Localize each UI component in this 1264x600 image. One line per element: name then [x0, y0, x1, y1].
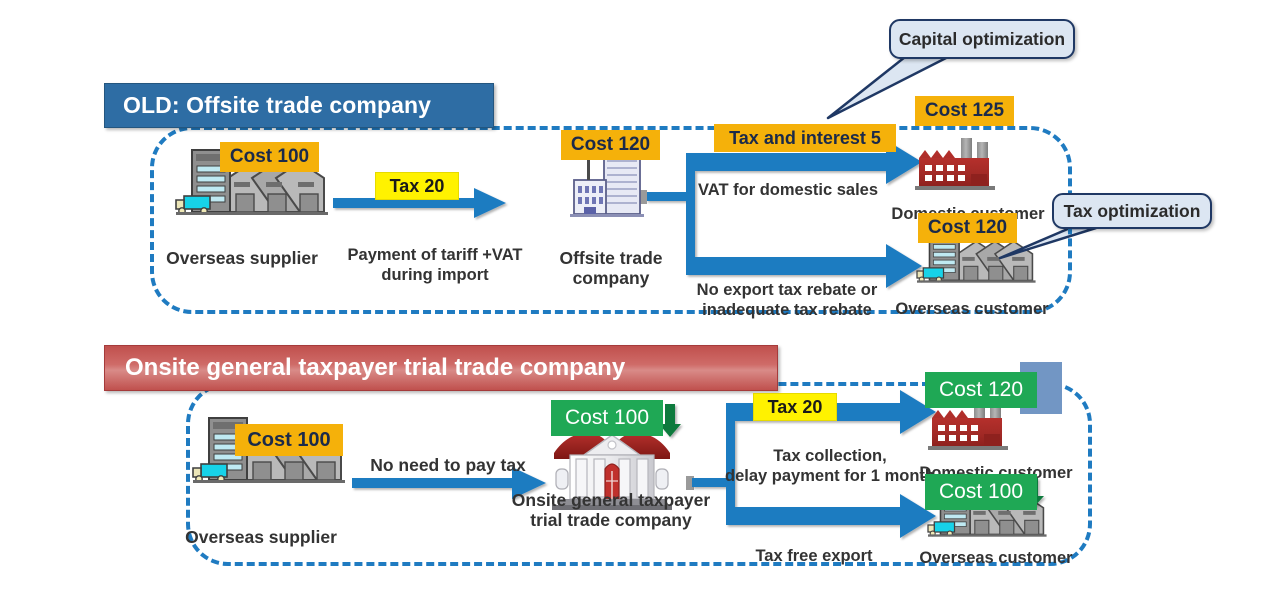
old-overseas-customer-label: Overseas customer	[890, 281, 1054, 320]
old-trade-company-cost-badge: Cost 120	[561, 130, 660, 160]
old-domestic-tax-badge: Tax and interest 5	[714, 124, 896, 152]
new-trade-company-label: Onsite general taxpayer trial trade comp…	[480, 469, 742, 531]
old-export-branch-caption: No export tax rebate or inadequate tax r…	[684, 262, 890, 320]
old-domestic-customer-cost-badge: Cost 125	[915, 96, 1014, 126]
old-supplier-cost-badge: Cost 100	[220, 142, 319, 172]
old-domestic-branch-caption: VAT for domestic sales	[698, 162, 894, 201]
old-supplier-cost-text: Cost 100	[230, 146, 309, 168]
old-section-banner: OLD: Offsite trade company	[104, 83, 494, 128]
new-section-banner-label: Onsite general taxpayer trial trade comp…	[125, 354, 625, 382]
new-export-branch-caption: Tax free export	[728, 528, 900, 567]
old-overseas-customer-cost-badge: Cost 120	[918, 213, 1017, 243]
old-section-banner-label: OLD: Offsite trade company	[123, 92, 431, 119]
old-supplier-label: Overseas supplier	[158, 227, 326, 268]
diagram-canvas: OLD: Offsite trade company Onsite genera…	[0, 0, 1264, 600]
new-overseas-customer-cost-badge: Cost 100	[925, 474, 1037, 510]
new-domestic-customer-cost-badge: Cost 120	[925, 372, 1037, 408]
old-import-tax-badge: Tax 20	[375, 172, 459, 200]
capital-optimization-callout[interactable]: Capital optimization	[889, 19, 1075, 59]
new-overseas-customer-label: Overseas customer	[903, 530, 1089, 569]
new-domestic-tax-badge: Tax 20	[753, 393, 837, 421]
new-trade-company-cost-badge: Cost 100	[551, 400, 663, 436]
old-import-caption: Payment of tariff +VAT during import	[335, 227, 535, 285]
new-section-banner: Onsite general taxpayer trial trade comp…	[104, 345, 778, 391]
old-trade-company-label: Offsite trade company	[545, 227, 677, 289]
new-supplier-cost-badge: Cost 100	[235, 424, 343, 456]
new-supplier-label: Overseas supplier	[177, 506, 345, 547]
tax-optimization-callout[interactable]: Tax optimization	[1052, 193, 1212, 229]
